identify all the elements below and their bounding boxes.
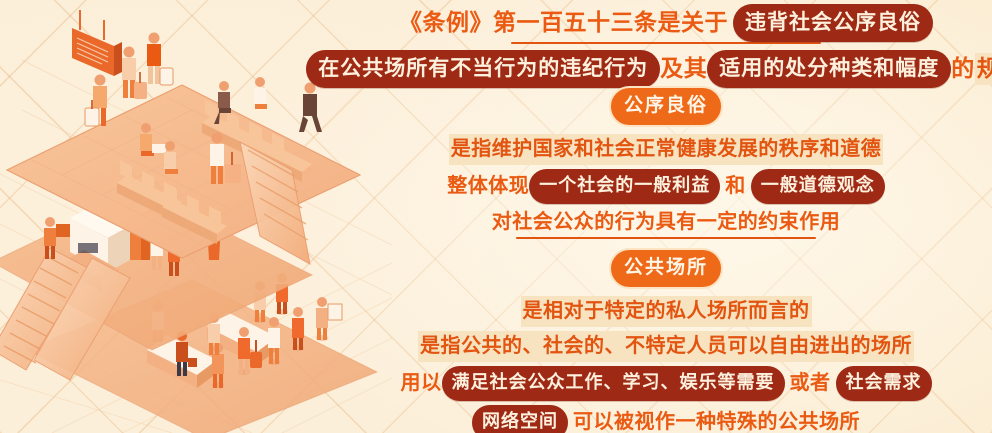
ggcs-pill-wangluo: 网络空间	[472, 405, 568, 433]
ggcs-line-2: 是指公共的、社会的、不特定人员可以自由进出的场所	[340, 331, 992, 362]
section-gonggongchangsuo: 公共场所 是相对于特定的私人场所而言的 是指公共的、社会的、不特定人员可以自由进…	[340, 248, 992, 433]
gxlr-line3-text: 对社会公众的行为具有一定的约束作用	[492, 208, 841, 237]
departure-board	[72, 10, 122, 76]
gxlr-line-1: 是指维护国家和社会正常健康发展的秩序和道德	[340, 134, 992, 165]
ggcs-line2-text: 是指公共的、社会的、不特定人员可以自由进出的场所	[418, 331, 914, 362]
ggcs-line-4: 网络空间 可以被视作一种特殊的公共场所	[340, 405, 992, 433]
gxlr-pill-daode: 一般道德观念	[751, 169, 885, 204]
title-pill-chufen: 适用的处分种类和幅度	[707, 50, 951, 88]
text-content-column: 《条例》第一百五十三条是关于 违背社会公序良俗 在公共场所有不当行为的违纪行为 …	[340, 0, 992, 433]
ggcs-pill-xuqiu: 社会需求	[836, 366, 932, 401]
ggcs-line-1: 是相对于特定的私人场所而言的	[340, 296, 992, 327]
ggcs-line4-tail: 可以被视作一种特殊的公共场所	[573, 408, 860, 433]
title-underline	[511, 42, 821, 44]
ggcs-line3-lead: 用以	[401, 369, 442, 398]
ggcs-line-3: 用以 满足社会公众工作、学习、娱乐等需要 或者 社会需求	[340, 366, 992, 401]
gxlr-pill-liyi: 一个社会的一般利益	[529, 169, 720, 204]
title-line-1: 《条例》第一百五十三条是关于 违背社会公序良俗	[340, 4, 992, 42]
gxlr-line-3: 对社会公众的行为具有一定的约束作用	[340, 208, 992, 237]
title-line-2: 在公共场所有不当行为的违纪行为 及其 适用的处分种类和幅度 的 规定	[340, 50, 992, 88]
ggcs-pill-manzu: 满足社会公众工作、学习、娱乐等需要	[442, 366, 785, 401]
title-pill-weibei: 违背社会公序良俗	[733, 4, 933, 42]
section-gongxuliangsu: 公序良俗 是指维护国家和社会正常健康发展的秩序和道德 整体体现 一个社会的一般利…	[340, 86, 992, 239]
badge-gonggongchangsuo: 公共场所	[609, 248, 723, 289]
gxlr-badge-line: 公序良俗	[340, 86, 992, 127]
gxlr-line1-text: 是指维护国家和社会正常健康发展的秩序和道德	[449, 134, 884, 165]
title-line2-mid: 及其	[660, 54, 707, 84]
title-line2-tail-highlight: 规定	[975, 53, 992, 85]
badge-gongxuliangsu: 公序良俗	[609, 86, 723, 127]
ggcs-badge-line: 公共场所	[340, 248, 992, 289]
title-line2-tail-plain: 的	[951, 54, 975, 84]
ggcs-line1-text: 是相对于特定的私人场所而言的	[521, 296, 812, 327]
gxlr-underline	[516, 237, 816, 239]
gxlr-line2-mid: 和	[725, 172, 746, 201]
title-pill-weiji: 在公共场所有不当行为的违纪行为	[306, 50, 660, 88]
gxlr-line2-lead: 整体体现	[447, 172, 529, 201]
title-line1-text: 《条例》第一百五十三条是关于	[399, 8, 728, 38]
title-block: 《条例》第一百五十三条是关于 违背社会公序良俗 在公共场所有不当行为的违纪行为 …	[340, 4, 992, 88]
poster-root: 《条例》第一百五十三条是关于 违背社会公序良俗 在公共场所有不当行为的违纪行为 …	[0, 0, 992, 433]
gxlr-line-2: 整体体现 一个社会的一般利益 和 一般道德观念	[340, 169, 992, 204]
ggcs-line3-mid: 或者	[790, 369, 831, 398]
